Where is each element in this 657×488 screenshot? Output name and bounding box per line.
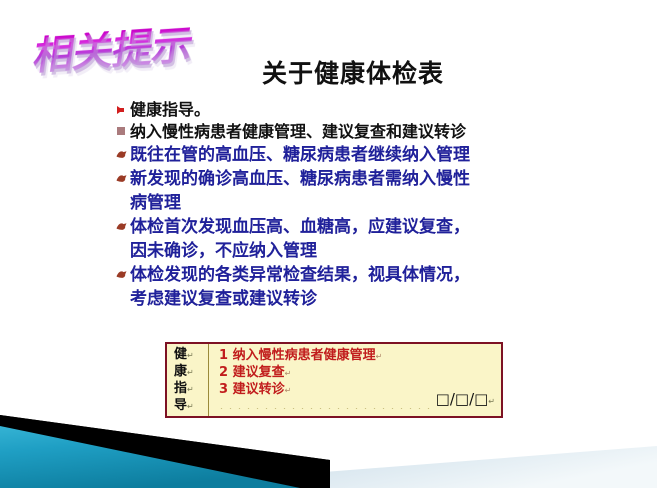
ornate-marker-icon bbox=[116, 167, 129, 186]
list-item-label: 因未确诊，不应纳入管理 bbox=[130, 239, 317, 263]
square-marker-icon bbox=[116, 121, 129, 140]
wordart-title: 相关提示 bbox=[31, 36, 231, 92]
list-item-label: 新发现的确诊高血压、糖尿病患者需纳入慢性 bbox=[130, 167, 470, 191]
list-item-label: 体检发现的各类异常检查结果，视具体情况， bbox=[130, 263, 470, 287]
list-item-label: 纳入慢性病患者健康管理、建议复查和建议转诊 bbox=[130, 121, 466, 142]
list-item: 体检首次发现血压高、血糖高，应建议复查， bbox=[116, 215, 586, 239]
list-item-label: 病管理 bbox=[130, 191, 181, 215]
arrow-marker-icon bbox=[116, 100, 129, 119]
slide-canvas: 相关提示 关于健康体检表 健康指导。 纳入慢性病患者健康管理、建议复查和建议转诊… bbox=[0, 0, 657, 488]
body-bullet-list: 健康指导。 纳入慢性病患者健康管理、建议复查和建议转诊 既往在管的高血压、糖尿病… bbox=[116, 100, 586, 311]
list-item-label: 健康指导。 bbox=[130, 100, 210, 120]
ornate-marker-icon bbox=[116, 143, 129, 162]
bottom-decoration bbox=[0, 408, 657, 488]
list-item-continuation: 病管理 bbox=[116, 191, 586, 215]
form-box-option[interactable]: 2 建议复查↵ bbox=[219, 365, 501, 382]
form-box-answer-row: □/□/□↵ bbox=[217, 392, 495, 409]
wordart-title-text: 相关提示 bbox=[31, 22, 239, 76]
list-item: 纳入慢性病患者健康管理、建议复查和建议转诊 bbox=[116, 121, 586, 142]
health-guidance-form-box: 健↵ 康↵ 指↵ 导↵ 1 纳入慢性病患者健康管理↵ 2 建议复查↵ 3 建议转… bbox=[165, 342, 503, 418]
list-item-label: 体检首次发现血压高、血糖高，应建议复查， bbox=[130, 215, 470, 239]
list-item-continuation: 考虑建议复查或建议转诊 bbox=[116, 287, 586, 311]
pale-blue-wedge bbox=[120, 446, 657, 488]
form-box-label-char: 康↵ bbox=[174, 364, 208, 381]
list-item-continuation: 因未确诊，不应纳入管理 bbox=[116, 239, 586, 263]
form-box-label-column: 健↵ 康↵ 指↵ 导↵ bbox=[167, 344, 209, 416]
form-box-label-char: 指↵ bbox=[174, 381, 208, 398]
form-box-label-char: 导↵ bbox=[174, 398, 208, 415]
page-title: 关于健康体检表 bbox=[262, 54, 444, 90]
dotted-leader bbox=[217, 396, 436, 409]
list-item: 新发现的确诊高血压、糖尿病患者需纳入慢性 bbox=[116, 167, 586, 191]
list-item: 既往在管的高血压、糖尿病患者继续纳入管理 bbox=[116, 143, 586, 167]
list-item-label: 既往在管的高血压、糖尿病患者继续纳入管理 bbox=[130, 143, 470, 167]
form-box-label-char: 健↵ bbox=[174, 347, 208, 364]
form-box-option[interactable]: 1 纳入慢性病患者健康管理↵ bbox=[219, 348, 501, 365]
list-item: 体检发现的各类异常检查结果，视具体情况， bbox=[116, 263, 586, 287]
form-box-content-column: 1 纳入慢性病患者健康管理↵ 2 建议复查↵ 3 建议转诊↵ □/□/□↵ bbox=[209, 344, 501, 416]
checkbox-group[interactable]: □/□/□↵ bbox=[436, 392, 495, 409]
ornate-marker-icon bbox=[116, 215, 129, 234]
teal-diagonal-band bbox=[0, 426, 300, 488]
list-item-label: 考虑建议复查或建议转诊 bbox=[130, 287, 317, 311]
list-item: 健康指导。 bbox=[116, 100, 586, 120]
ornate-marker-icon bbox=[116, 263, 129, 282]
black-diagonal-band bbox=[0, 415, 330, 488]
